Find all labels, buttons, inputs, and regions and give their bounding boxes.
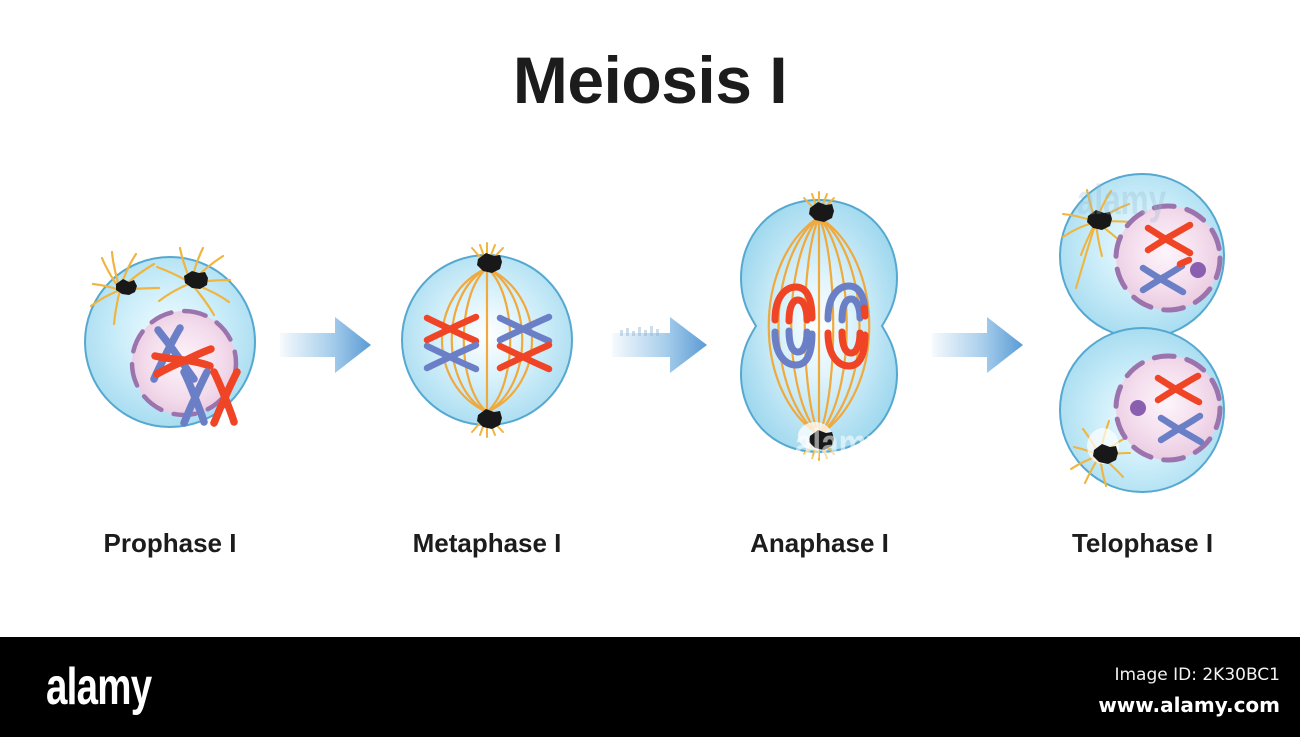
anaphase-1-illustration (712, 160, 927, 500)
chromosome-top-blue-tip (1180, 260, 1189, 264)
stage-metaphase-1: Metaphase I (382, 160, 592, 500)
arrow-right-icon (278, 300, 373, 390)
chromosome-top-right-tip (864, 308, 865, 316)
stage-label-telophase-1: Telophase I (1030, 528, 1255, 559)
arrow-prophase-to-metaphase (278, 300, 373, 390)
footer-bar: alamy Image ID: 2K30BC1 www.alamy.com (0, 637, 1300, 737)
nucleolus-bottom (1130, 400, 1146, 416)
footer-image-id: Image ID: 2K30BC1 (1114, 665, 1280, 685)
stage-label-anaphase-1: Anaphase I (712, 528, 927, 559)
arrow-right-icon (930, 300, 1025, 390)
stage-anaphase-1: Anaphase I (712, 160, 927, 500)
stage-telophase-1: Telophase I (1030, 160, 1255, 500)
metaphase-1-illustration (382, 160, 592, 500)
alamy-logo: alamy (46, 661, 151, 713)
diagram-canvas: Meiosis I (0, 0, 1300, 737)
stage-label-prophase-1: Prophase I (60, 528, 280, 559)
arrow-anaphase-to-telophase (930, 300, 1025, 390)
nucleolus-top (1190, 262, 1206, 278)
telophase-1-illustration (1030, 160, 1255, 500)
footer-url[interactable]: www.alamy.com (1098, 693, 1280, 717)
arrow-metaphase-to-anaphase (610, 300, 710, 390)
stage-prophase-1: Prophase I (60, 160, 280, 500)
page-title: Meiosis I (0, 47, 1300, 113)
arrow-right-icon (610, 300, 710, 390)
prophase-1-illustration (60, 160, 280, 500)
stage-label-metaphase-1: Metaphase I (382, 528, 592, 559)
